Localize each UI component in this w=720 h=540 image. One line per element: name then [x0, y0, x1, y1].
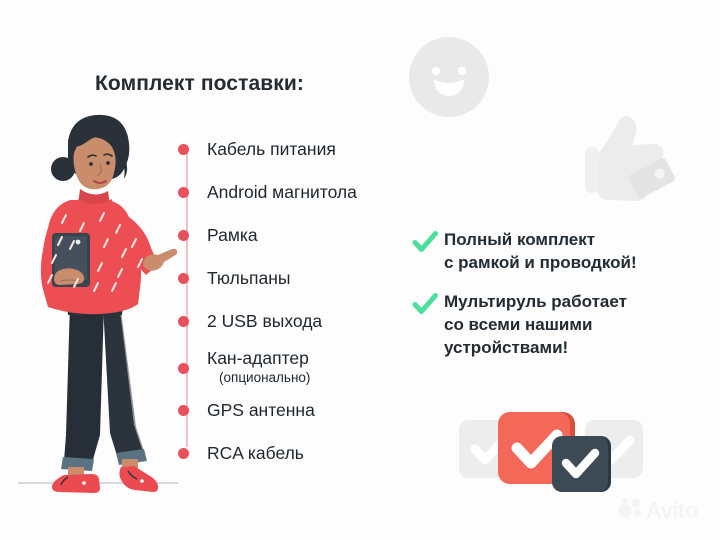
- poster-canvas: Комплект поставки: Кабель питания Androi…: [0, 0, 720, 540]
- bullet-dot-icon: [178, 144, 189, 155]
- feature-highlights: Полный комплект с рамкой и проводкой! Му…: [412, 228, 692, 375]
- feature-text-line: Полный комплект: [444, 228, 637, 251]
- page-title: Комплект поставки:: [95, 72, 304, 96]
- list-item: Тюльпаны: [178, 267, 290, 289]
- bullet-dot-icon: [178, 230, 189, 241]
- list-item-label: 2 USB выхода: [207, 310, 322, 332]
- feature-text-line: со всеми нашими: [444, 313, 627, 336]
- feature-item: Полный комплект с рамкой и проводкой!: [412, 228, 692, 274]
- bullet-dot-icon: [178, 448, 189, 459]
- list-item-label: Кан-адаптер: [207, 347, 310, 369]
- list-item: Кабель питания: [178, 138, 336, 160]
- list-item: Кан-адаптер (опционально): [178, 347, 310, 387]
- bullet-dot-icon: [178, 316, 189, 327]
- list-item-label: Тюльпаны: [207, 267, 290, 289]
- list-item: Android магнитола: [178, 181, 357, 203]
- feature-text-line: с рамкой и проводкой!: [444, 251, 637, 274]
- smiley-face-icon: [408, 36, 490, 118]
- list-item: GPS антенна: [178, 399, 315, 421]
- woman-pointing-illustration: [8, 105, 178, 505]
- list-item: RCA кабель: [178, 442, 304, 464]
- list-item-label: Рамка: [207, 224, 258, 246]
- thumbs-up-icon: [575, 112, 681, 216]
- list-item-label: Кабель питания: [207, 138, 336, 160]
- bullet-dot-icon: [178, 187, 189, 198]
- list-item: 2 USB выхода: [178, 310, 322, 332]
- bullet-dot-icon: [178, 405, 189, 416]
- list-item: Рамка: [178, 224, 258, 246]
- bullet-dot-icon: [178, 363, 189, 374]
- checkbox-group-icon: [455, 398, 645, 498]
- bullet-dot-icon: [178, 273, 189, 284]
- feature-text-line: Мультируль работает: [444, 290, 627, 313]
- package-contents-list: Кабель питания Android магнитола Рамка Т…: [178, 132, 428, 462]
- list-item-sublabel: (опционально): [219, 369, 310, 387]
- green-check-icon: [412, 229, 438, 255]
- avito-logo-icon: [618, 497, 644, 524]
- feature-item: Мультируль работает со всеми нашими устр…: [412, 290, 692, 359]
- feature-text-line: устройствами!: [444, 336, 627, 359]
- list-item-label: GPS антенна: [207, 399, 315, 421]
- list-item-label: RCA кабель: [207, 442, 304, 464]
- avito-watermark: Avito: [618, 497, 698, 524]
- dark-checkbox: [552, 436, 611, 492]
- green-check-icon: [412, 291, 438, 317]
- list-item-label: Android магнитола: [207, 181, 357, 203]
- avito-wordmark: Avito: [646, 498, 698, 524]
